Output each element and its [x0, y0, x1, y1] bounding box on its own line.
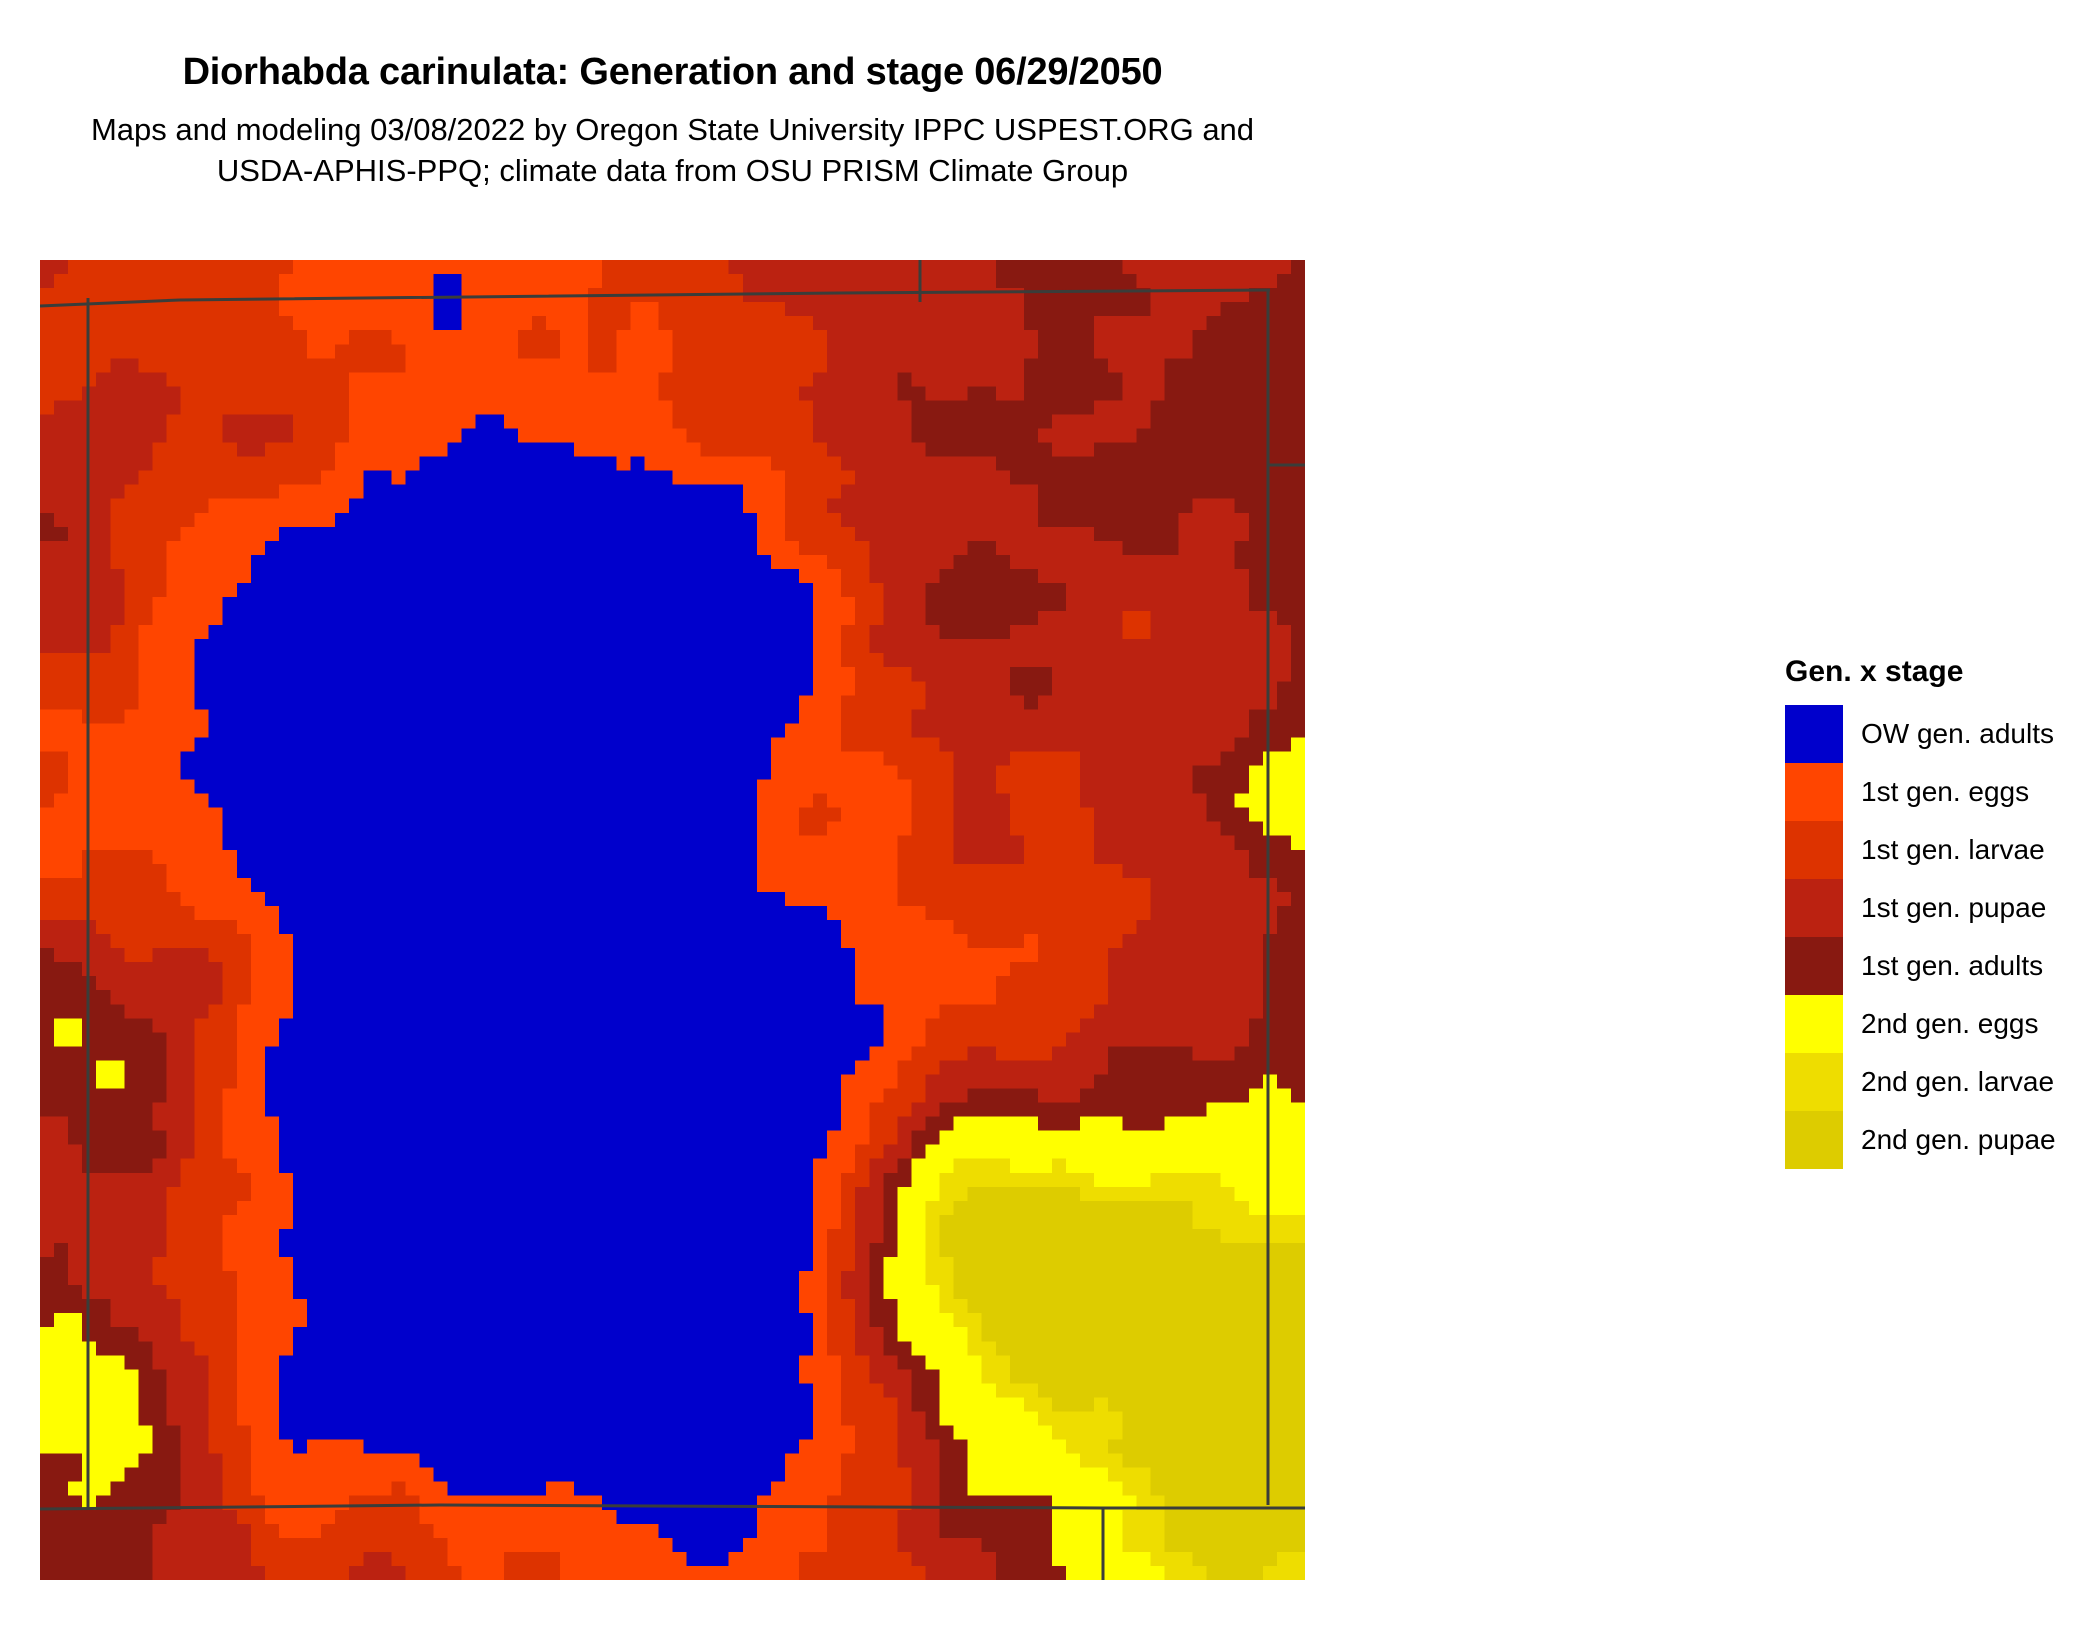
legend-swatch-7 — [1785, 1111, 1843, 1169]
page-title: Diorhabda carinulata: Generation and sta… — [0, 50, 1345, 96]
legend-label-3: 1st gen. pupae — [1861, 879, 2085, 937]
legend-swatch-4 — [1785, 937, 1843, 995]
legend-labels: OW gen. adults1st gen. eggs1st gen. larv… — [1861, 705, 2085, 1169]
subtitle-line-2: USDA-APHIS-PPQ; climate data from OSU PR… — [0, 151, 1345, 192]
legend-swatch-5 — [1785, 995, 1843, 1053]
legend-swatch-3 — [1785, 879, 1843, 937]
legend-label-5: 2nd gen. eggs — [1861, 995, 2085, 1053]
legend-label-0: OW gen. adults — [1861, 705, 2085, 763]
legend-swatch-2 — [1785, 821, 1843, 879]
map-subtitle: Maps and modeling 03/08/2022 by Oregon S… — [0, 110, 1345, 192]
raster-map[interactable] — [40, 260, 1305, 1580]
state-boundaries-overlay — [40, 260, 1305, 1580]
legend-swatch-6 — [1785, 1053, 1843, 1111]
legend-label-7: 2nd gen. pupae — [1861, 1111, 2085, 1169]
legend-label-4: 1st gen. adults — [1861, 937, 2085, 995]
state-border-north-horizontal — [40, 290, 1270, 306]
legend-title: Gen. x stage — [1785, 655, 2085, 689]
legend-colorbar — [1785, 705, 1843, 1169]
legend-label-1: 1st gen. eggs — [1861, 763, 2085, 821]
legend-label-6: 2nd gen. larvae — [1861, 1053, 2085, 1111]
legend-body: OW gen. adults1st gen. eggs1st gen. larv… — [1785, 705, 2085, 1169]
legend: Gen. x stage OW gen. adults1st gen. eggs… — [1785, 655, 2085, 1169]
subtitle-line-1: Maps and modeling 03/08/2022 by Oregon S… — [0, 110, 1345, 151]
legend-label-2: 1st gen. larvae — [1861, 821, 2085, 879]
legend-swatch-0 — [1785, 705, 1843, 763]
state-border-south-horizontal — [40, 1505, 1305, 1509]
legend-swatch-1 — [1785, 763, 1843, 821]
map-header: Diorhabda carinulata: Generation and sta… — [0, 0, 1345, 191]
